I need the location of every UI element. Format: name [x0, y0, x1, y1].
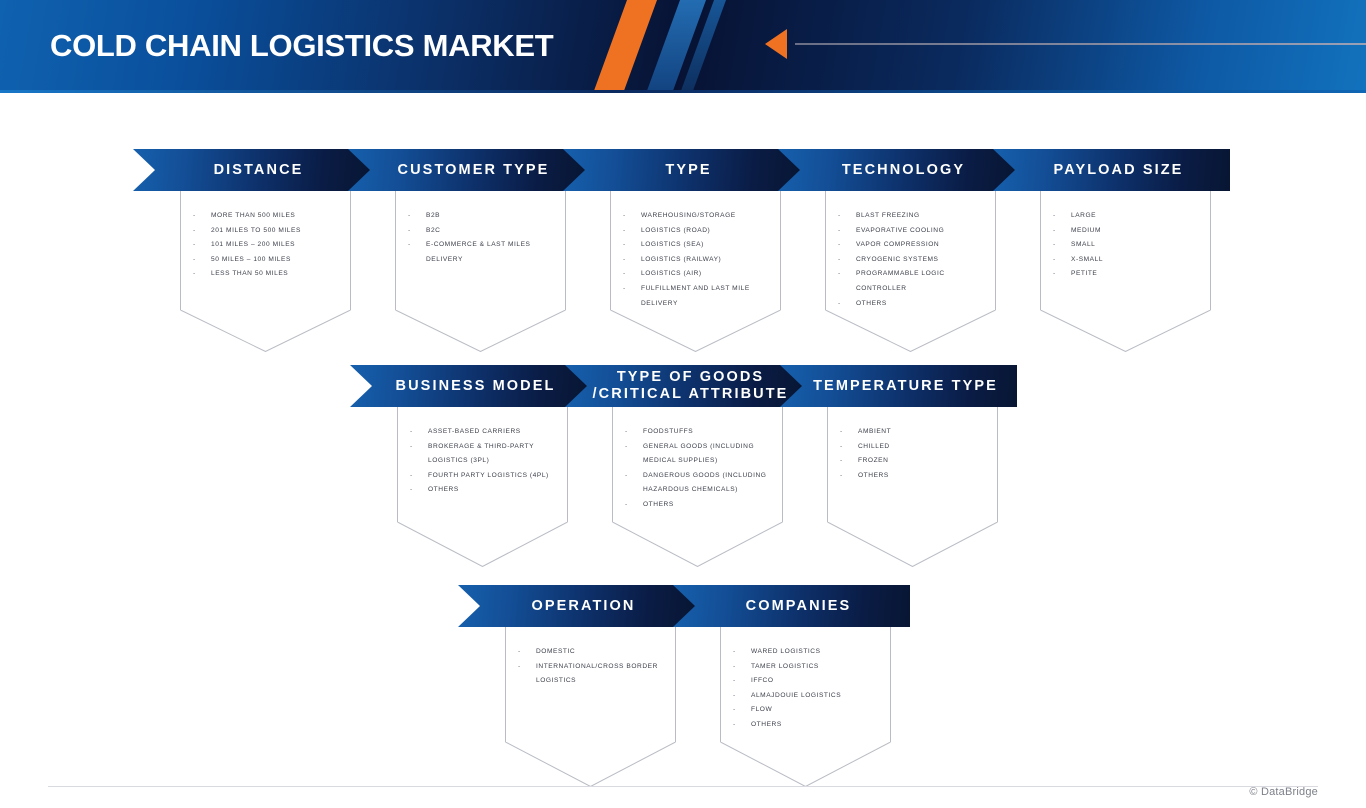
banner-arrow-tip: [1230, 149, 1252, 191]
list-item-label: ALMAJDOUIE LOGISTICS: [751, 689, 890, 704]
bullet-dash: -: [396, 238, 426, 253]
banner-title-type: TYPE: [651, 162, 711, 179]
card-body-operation: -DOMESTIC-INTERNATIONAL/CROSS BORDER LOG…: [505, 627, 676, 742]
list-item-label: FULFILLMENT AND LAST MILE DELIVERY: [641, 282, 780, 311]
footer-divider: [48, 786, 1318, 787]
card-point-temperature-type: [827, 522, 998, 567]
list-item[interactable]: -FOURTH PARTY LOGISTICS (4PL): [398, 469, 567, 484]
list-item-label: PROGRAMMABLE LOGIC CONTROLLER: [856, 267, 995, 296]
list-item-label: BLAST FREEZING: [856, 209, 995, 224]
list-item-label: WAREHOUSING/STORAGE: [641, 209, 780, 224]
card-body-technology: -BLAST FREEZING-EVAPORATIVE COOLING-VAPO…: [825, 191, 996, 310]
bullet-dash: -: [181, 267, 211, 282]
card-list-companies: -WARED LOGISTICS-TAMER LOGISTICS-IFFCO-A…: [721, 627, 890, 733]
card-point-payload-size: [1040, 310, 1211, 352]
list-item[interactable]: -DOMESTIC: [506, 645, 675, 660]
bullet-dash: -: [611, 224, 641, 239]
bullet-dash: -: [828, 454, 858, 469]
list-item-label: OTHERS: [856, 297, 995, 312]
list-item[interactable]: -FLOW: [721, 703, 890, 718]
card-point-technology: [825, 310, 996, 352]
list-item[interactable]: -B2C: [396, 224, 565, 239]
list-item[interactable]: -ALMAJDOUIE LOGISTICS: [721, 689, 890, 704]
page-header: COLD CHAIN LOGISTICS MARKET: [0, 0, 1366, 92]
bullet-dash: -: [721, 660, 751, 675]
list-item-label: ASSET-BASED CARRIERS: [428, 425, 567, 440]
list-item[interactable]: -LOGISTICS (ROAD): [611, 224, 780, 239]
card-list-technology: -BLAST FREEZING-EVAPORATIVE COOLING-VAPO…: [826, 191, 995, 311]
card-point-type-of-goods: [612, 522, 783, 567]
list-item-label: FROZEN: [858, 454, 997, 469]
bullet-dash: -: [613, 498, 643, 513]
banner-business-model[interactable]: BUSINESS MODEL: [350, 365, 587, 407]
bullet-dash: -: [1041, 253, 1071, 268]
bullet-dash: -: [826, 209, 856, 224]
bullet-dash: -: [613, 425, 643, 440]
list-item[interactable]: -CRYOGENIC SYSTEMS: [826, 253, 995, 268]
list-item-label: DOMESTIC: [536, 645, 675, 660]
footer-copyright: © DataBridge: [1249, 786, 1318, 798]
list-item[interactable]: -BLAST FREEZING: [826, 209, 995, 224]
bullet-dash: -: [721, 689, 751, 704]
list-item-label: B2B: [426, 209, 565, 224]
card-body-payload-size: -LARGE-MEDIUM-SMALL-X-SMALL-PETITE: [1040, 191, 1211, 310]
list-item-label: VAPOR COMPRESSION: [856, 238, 995, 253]
bullet-dash: -: [1041, 267, 1071, 282]
list-item-label: LESS THAN 50 MILES: [211, 267, 350, 282]
bullet-dash: -: [181, 238, 211, 253]
bullet-dash: -: [826, 267, 856, 282]
header-rule: [795, 43, 1366, 45]
card-body-distance: -MORE THAN 500 MILES-201 MILES TO 500 MI…: [180, 191, 351, 310]
list-item[interactable]: -CHILLED: [828, 440, 997, 455]
list-item[interactable]: -LOGISTICS (SEA): [611, 238, 780, 253]
list-item[interactable]: -EVAPORATIVE COOLING: [826, 224, 995, 239]
bullet-dash: -: [828, 469, 858, 484]
list-item-label: OTHERS: [428, 483, 567, 498]
banner-customer-type[interactable]: CUSTOMER TYPE: [348, 149, 585, 191]
bullet-dash: -: [181, 209, 211, 224]
bullet-dash: -: [611, 209, 641, 224]
list-item-label: X-SMALL: [1071, 253, 1210, 268]
list-item-label: AMBIENT: [858, 425, 997, 440]
banner-technology[interactable]: TECHNOLOGY: [778, 149, 1015, 191]
list-item[interactable]: -OTHERS: [828, 469, 997, 484]
card-list-payload-size: -LARGE-MEDIUM-SMALL-X-SMALL-PETITE: [1041, 191, 1210, 282]
card-point-companies: [720, 742, 891, 787]
bullet-dash: -: [826, 224, 856, 239]
list-item[interactable]: -FROZEN: [828, 454, 997, 469]
banner-operation[interactable]: OPERATION: [458, 585, 695, 627]
bullet-dash: -: [1041, 238, 1071, 253]
list-item[interactable]: -IFFCO: [721, 674, 890, 689]
list-item[interactable]: -LOGISTICS (AIR): [611, 267, 780, 282]
list-item-label: CHILLED: [858, 440, 997, 455]
banner-title-companies: COMPANIES: [732, 598, 852, 615]
list-item-label: DANGEROUS GOODS (INCLUDING HAZARDOUS CHE…: [643, 469, 782, 498]
list-item-label: LOGISTICS (ROAD): [641, 224, 780, 239]
list-item[interactable]: -DANGEROUS GOODS (INCLUDING HAZARDOUS CH…: [613, 469, 782, 498]
bullet-dash: -: [721, 674, 751, 689]
page-title: COLD CHAIN LOGISTICS MARKET: [50, 28, 553, 64]
bullet-dash: -: [506, 660, 536, 675]
list-item[interactable]: -201 MILES TO 500 MILES: [181, 224, 350, 239]
list-item[interactable]: -AMBIENT: [828, 425, 997, 440]
list-item-label: TAMER LOGISTICS: [751, 660, 890, 675]
list-item[interactable]: -OTHERS: [398, 483, 567, 498]
bullet-dash: -: [611, 267, 641, 282]
list-item[interactable]: -TAMER LOGISTICS: [721, 660, 890, 675]
banner-title-line1: TYPE OF GOODS: [617, 369, 764, 385]
bullet-dash: -: [613, 469, 643, 484]
card-point-distance: [180, 310, 351, 352]
list-item[interactable]: -VAPOR COMPRESSION: [826, 238, 995, 253]
list-item[interactable]: -OTHERS: [721, 718, 890, 733]
list-item-label: 201 MILES TO 500 MILES: [211, 224, 350, 239]
list-item-label: LOGISTICS (RAILWAY): [641, 253, 780, 268]
list-item[interactable]: -FOODSTUFFS: [613, 425, 782, 440]
list-item-label: GENERAL GOODS (INCLUDING MEDICAL SUPPLIE…: [643, 440, 782, 469]
list-item[interactable]: -WARED LOGISTICS: [721, 645, 890, 660]
bullet-dash: -: [1041, 209, 1071, 224]
banner-type[interactable]: TYPE: [563, 149, 800, 191]
card-body-temperature-type: -AMBIENT-CHILLED-FROZEN-OTHERS: [827, 407, 998, 522]
list-item-label: LOGISTICS (SEA): [641, 238, 780, 253]
bullet-dash: -: [826, 253, 856, 268]
list-item[interactable]: -WAREHOUSING/STORAGE: [611, 209, 780, 224]
card-body-type-of-goods: -FOODSTUFFS-GENERAL GOODS (INCLUDING MED…: [612, 407, 783, 522]
list-item-label: LOGISTICS (AIR): [641, 267, 780, 282]
card-point-customer-type: [395, 310, 566, 352]
card-list-temperature-type: -AMBIENT-CHILLED-FROZEN-OTHERS: [828, 407, 997, 483]
list-item-label: 101 MILES – 200 MILES: [211, 238, 350, 253]
card-body-type: -WAREHOUSING/STORAGE-LOGISTICS (ROAD)-LO…: [610, 191, 781, 310]
list-item[interactable]: -BROKERAGE & THIRD-PARTY LOGISTICS (3PL): [398, 440, 567, 469]
list-item[interactable]: -PETITE: [1041, 267, 1210, 282]
bullet-dash: -: [181, 224, 211, 239]
banner-title-line2: /CRITICAL ATTRIBUTE: [593, 386, 789, 403]
banner-title-temperature-type: TEMPERATURE TYPE: [799, 378, 998, 395]
banner-title-payload-size: PAYLOAD SIZE: [1040, 162, 1184, 179]
card-point-business-model: [397, 522, 568, 567]
bullet-dash: -: [398, 483, 428, 498]
left-arrow-icon: [765, 29, 787, 59]
banner-distance[interactable]: DISTANCE: [133, 149, 370, 191]
list-item[interactable]: -MORE THAN 500 MILES: [181, 209, 350, 224]
bullet-dash: -: [398, 425, 428, 440]
bullet-dash: -: [828, 425, 858, 440]
list-item[interactable]: -50 MILES – 100 MILES: [181, 253, 350, 268]
banner-companies[interactable]: COMPANIES: [673, 585, 910, 627]
bullet-dash: -: [826, 297, 856, 312]
banner-title-operation: OPERATION: [517, 598, 635, 615]
list-item-label: FOURTH PARTY LOGISTICS (4PL): [428, 469, 567, 484]
list-item[interactable]: -SMALL: [1041, 238, 1210, 253]
banner-title-customer-type: CUSTOMER TYPE: [384, 162, 550, 179]
card-body-customer-type: -B2B-B2C-E-COMMERCE & LAST MILES DELIVER…: [395, 191, 566, 310]
list-item[interactable]: -PROGRAMMABLE LOGIC CONTROLLER: [826, 267, 995, 296]
list-item-label: EVAPORATIVE COOLING: [856, 224, 995, 239]
card-point-type: [610, 310, 781, 352]
list-item-label: OTHERS: [751, 718, 890, 733]
list-item-label: OTHERS: [858, 469, 997, 484]
bullet-dash: -: [398, 469, 428, 484]
banner-title-type-of-goods: TYPE OF GOODS/CRITICAL ATTRIBUTE: [579, 369, 789, 403]
bullet-dash: -: [396, 224, 426, 239]
list-item-label: LARGE: [1071, 209, 1210, 224]
list-item[interactable]: -X-SMALL: [1041, 253, 1210, 268]
bullet-dash: -: [1041, 224, 1071, 239]
header-bottom-accent: [0, 90, 1366, 93]
bullet-dash: -: [611, 253, 641, 268]
list-item[interactable]: -OTHERS: [613, 498, 782, 513]
bullet-dash: -: [721, 703, 751, 718]
banner-arrow-tip: [1017, 365, 1039, 407]
bullet-dash: -: [506, 645, 536, 660]
list-item-label: E-COMMERCE & LAST MILES DELIVERY: [426, 238, 565, 267]
bullet-dash: -: [181, 253, 211, 268]
bullet-dash: -: [721, 645, 751, 660]
list-item-label: CRYOGENIC SYSTEMS: [856, 253, 995, 268]
card-body-business-model: -ASSET-BASED CARRIERS-BROKERAGE & THIRD-…: [397, 407, 568, 522]
card-body-companies: -WARED LOGISTICS-TAMER LOGISTICS-IFFCO-A…: [720, 627, 891, 742]
list-item-label: WARED LOGISTICS: [751, 645, 890, 660]
banner-temperature-type[interactable]: TEMPERATURE TYPE: [780, 365, 1017, 407]
list-item-label: 50 MILES – 100 MILES: [211, 253, 350, 268]
card-list-customer-type: -B2B-B2C-E-COMMERCE & LAST MILES DELIVER…: [396, 191, 565, 267]
bullet-dash: -: [396, 209, 426, 224]
card-point-operation: [505, 742, 676, 787]
list-item[interactable]: -LESS THAN 50 MILES: [181, 267, 350, 282]
list-item[interactable]: -E-COMMERCE & LAST MILES DELIVERY: [396, 238, 565, 267]
banner-title-business-model: BUSINESS MODEL: [382, 378, 556, 395]
list-item-label: INTERNATIONAL/CROSS BORDER LOGISTICS: [536, 660, 675, 689]
banner-type-of-goods[interactable]: TYPE OF GOODS/CRITICAL ATTRIBUTE: [565, 365, 802, 407]
list-item-label: MORE THAN 500 MILES: [211, 209, 350, 224]
card-list-business-model: -ASSET-BASED CARRIERS-BROKERAGE & THIRD-…: [398, 407, 567, 498]
banner-arrow-tip: [910, 585, 932, 627]
list-item[interactable]: -101 MILES – 200 MILES: [181, 238, 350, 253]
card-list-distance: -MORE THAN 500 MILES-201 MILES TO 500 MI…: [181, 191, 350, 282]
list-item[interactable]: -MEDIUM: [1041, 224, 1210, 239]
list-item-label: IFFCO: [751, 674, 890, 689]
list-item[interactable]: -ASSET-BASED CARRIERS: [398, 425, 567, 440]
bullet-dash: -: [611, 238, 641, 253]
bullet-dash: -: [828, 440, 858, 455]
list-item-label: BROKERAGE & THIRD-PARTY LOGISTICS (3PL): [428, 440, 567, 469]
list-item[interactable]: -LOGISTICS (RAILWAY): [611, 253, 780, 268]
card-list-operation: -DOMESTIC-INTERNATIONAL/CROSS BORDER LOG…: [506, 627, 675, 689]
list-item[interactable]: -B2B: [396, 209, 565, 224]
list-item-label: OTHERS: [643, 498, 782, 513]
list-item[interactable]: -OTHERS: [826, 297, 995, 312]
banner-payload-size[interactable]: PAYLOAD SIZE: [993, 149, 1230, 191]
bullet-dash: -: [611, 282, 641, 297]
bullet-dash: -: [721, 718, 751, 733]
bullet-dash: -: [613, 440, 643, 455]
card-list-type-of-goods: -FOODSTUFFS-GENERAL GOODS (INCLUDING MED…: [613, 407, 782, 513]
list-item-label: MEDIUM: [1071, 224, 1210, 239]
bullet-dash: -: [826, 238, 856, 253]
list-item-label: FLOW: [751, 703, 890, 718]
list-item[interactable]: -FULFILLMENT AND LAST MILE DELIVERY: [611, 282, 780, 311]
list-item-label: FOODSTUFFS: [643, 425, 782, 440]
list-item[interactable]: -GENERAL GOODS (INCLUDING MEDICAL SUPPLI…: [613, 440, 782, 469]
list-item[interactable]: -INTERNATIONAL/CROSS BORDER LOGISTICS: [506, 660, 675, 689]
banner-title-distance: DISTANCE: [200, 162, 304, 179]
list-item-label: B2C: [426, 224, 565, 239]
list-item-label: SMALL: [1071, 238, 1210, 253]
list-item[interactable]: -LARGE: [1041, 209, 1210, 224]
list-item-label: PETITE: [1071, 267, 1210, 282]
bullet-dash: -: [398, 440, 428, 455]
banner-title-technology: TECHNOLOGY: [828, 162, 965, 179]
card-list-type: -WAREHOUSING/STORAGE-LOGISTICS (ROAD)-LO…: [611, 191, 780, 311]
